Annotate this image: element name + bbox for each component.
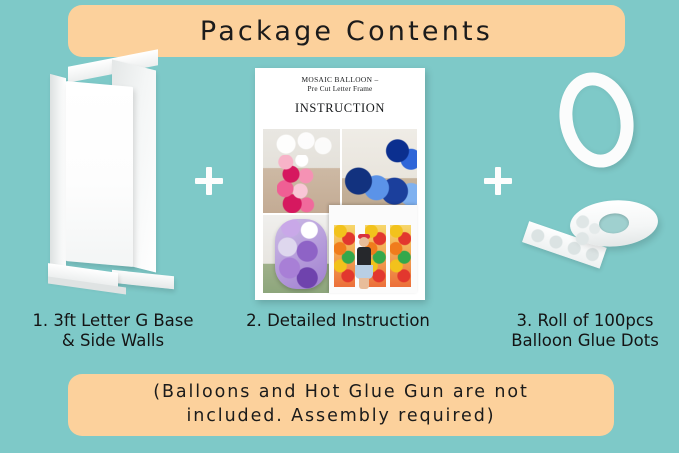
disclaimer-banner: (Balloons and Hot Glue Gun are not inclu… [68, 374, 614, 436]
title-banner: Package Contents [68, 5, 625, 57]
item-caption-3: 3. Roll of 100pcs Balloon Glue Dots [492, 311, 678, 351]
photo-blue-balloon-letters [342, 129, 417, 213]
frame-left-side-wall [50, 74, 66, 278]
plus-icon [195, 167, 223, 195]
glue-dot-ring-roll [551, 65, 642, 174]
rainbow-letter-1 [334, 225, 355, 287]
item-caption-2: 2. Detailed Instruction [238, 311, 438, 331]
child-legs [359, 278, 369, 289]
disclaimer-text: (Balloons and Hot Glue Gun are not inclu… [143, 381, 539, 428]
booklet-title: INSTRUCTION [263, 101, 417, 116]
glue-dot-roll-icon [528, 60, 679, 310]
child-skirt [355, 265, 373, 279]
plus-icon [484, 167, 512, 195]
rainbow-letter-3 [390, 225, 411, 287]
pink-balloon-cluster [277, 155, 317, 213]
child-top [357, 247, 371, 267]
letter-frame-icon [20, 60, 205, 310]
photo-child-with-letters [329, 205, 417, 293]
booklet-subtitle-line1: MOSAIC BALLOON – [263, 75, 417, 85]
child-head [359, 237, 369, 247]
booklet-subtitle-line2: Pre Cut Letter Frame [263, 85, 417, 95]
glue-dot-tape-roll [568, 189, 672, 258]
instruction-booklet-icon: MOSAIC BALLOON – Pre Cut Letter Frame IN… [255, 68, 425, 300]
frame-face-panel [66, 81, 133, 267]
photo-pink-balloon-tower [263, 129, 340, 213]
booklet-header: MOSAIC BALLOON – Pre Cut Letter Frame IN… [255, 68, 425, 116]
page-title: Package Contents [200, 18, 493, 45]
item-caption-1: 1. 3ft Letter G Base & Side Walls [2, 311, 224, 351]
glue-dot-roll-body [569, 197, 660, 249]
package-contents-infographic: Package Contents MOSAIC BALLOON – Pre Cu… [0, 0, 679, 453]
purple-balloon-letter [275, 219, 327, 289]
child-figure [355, 237, 373, 289]
booklet-photo-grid [263, 129, 417, 293]
